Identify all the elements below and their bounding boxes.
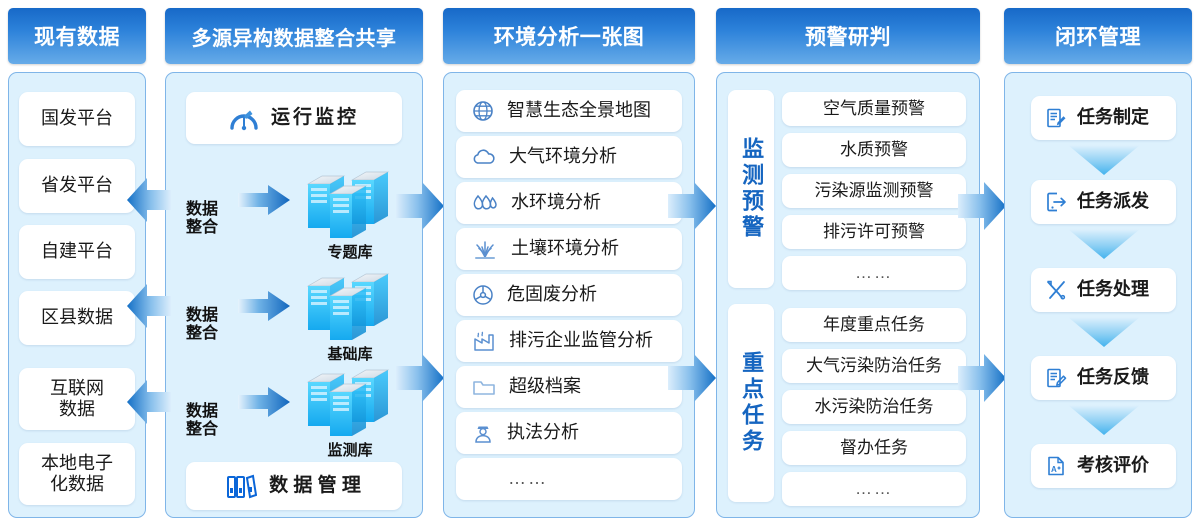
card-label: 智慧生态全景地图 [507, 100, 651, 121]
database-label: 基础库 [327, 343, 372, 364]
card-hazardous-waste-analysis[interactable]: 危固废分析 [456, 274, 682, 316]
closed-loop-down-arrow-1 [1068, 145, 1140, 175]
card-label: 土壤环境分析 [511, 238, 619, 259]
column-title-early-warning: 预警研判 [805, 21, 891, 51]
flow-arrow-2 [238, 289, 290, 323]
card-label: 任务派发 [1077, 191, 1149, 212]
card-label: …… [508, 468, 548, 489]
database-label: 专题库 [327, 241, 372, 262]
grade-icon: A [1045, 455, 1067, 477]
card-label: 互联网 数据 [50, 378, 104, 420]
soil-grass-icon [472, 238, 498, 260]
document-edit-icon [1045, 107, 1067, 129]
card-local-digital-data[interactable]: 本地电子 化数据 [19, 443, 135, 505]
warning-to-closedloop-arrow-1 [958, 176, 1006, 236]
card-label: 运行监控 [271, 107, 359, 129]
closed-loop-down-arrow-3 [1068, 317, 1140, 347]
flow-label-1: 数据 整合 [186, 183, 218, 237]
card-supervision-task[interactable]: 督办任务 [782, 431, 966, 465]
card-label: 区县数据 [41, 307, 113, 328]
card-law-enforcement-analysis[interactable]: 执法分析 [456, 412, 682, 454]
card-label: 执法分析 [507, 422, 579, 443]
column-title-closed-loop: 闭环管理 [1055, 21, 1141, 51]
card-label: 任务处理 [1077, 279, 1149, 300]
binders-icon [227, 473, 257, 499]
card-water-pollution-control-task[interactable]: 水污染防治任务 [782, 390, 966, 424]
integration-to-analysis-arrow-2 [396, 348, 444, 408]
card-shengfa-platform[interactable]: 省发平台 [19, 159, 135, 213]
analysis-to-warning-arrow-1 [668, 176, 716, 236]
warning-to-closedloop-arrow-2 [958, 348, 1006, 408]
server-rack-icon [300, 366, 400, 438]
card-label: 数 据 管 理 [269, 475, 361, 497]
server-rack-icon [300, 270, 400, 342]
card-task-processing[interactable]: 任务处理 [1031, 268, 1176, 312]
card-label: 大气环境分析 [509, 146, 617, 167]
officer-icon [472, 422, 494, 444]
card-task-dispatch[interactable]: 任务派发 [1031, 180, 1176, 224]
group-band-monitoring-warning: 监测预警 [728, 90, 774, 288]
database-monitoring: 监测库 [296, 366, 404, 460]
card-guofa-platform[interactable]: 国发平台 [19, 92, 135, 146]
card-smart-eco-panorama-map[interactable]: 智慧生态全景地图 [456, 90, 682, 132]
closed-loop-down-arrow-2 [1068, 229, 1140, 259]
card-polluting-enterprise-supervision[interactable]: 排污企业监管分析 [456, 320, 682, 362]
card-environment-ellipsis: …… [456, 458, 682, 500]
cloud-icon [472, 147, 496, 167]
card-label: 水环境分析 [511, 192, 601, 213]
column-title-existing-data: 现有数据 [34, 21, 120, 51]
card-label: 危固废分析 [507, 284, 597, 305]
card-key-task-ellipsis: …… [782, 472, 966, 506]
card-atmosphere-analysis[interactable]: 大气环境分析 [456, 136, 682, 178]
flow-label-3: 数据 整合 [186, 385, 218, 439]
card-label: 空气质量预警 [823, 99, 925, 119]
card-warning-ellipsis: …… [782, 256, 966, 290]
column-header-environment-analysis: 环境分析一张图 [443, 8, 695, 64]
group-band-key-tasks: 重点任务 [728, 304, 774, 502]
card-assessment-evaluation[interactable]: A 考核评价 [1031, 444, 1176, 488]
flow-arrow-1 [238, 183, 290, 217]
dispatch-icon [1045, 191, 1067, 213]
feedback-icon [1045, 367, 1067, 389]
flow-arrow-3 [238, 385, 290, 419]
card-label: 考核评价 [1077, 455, 1149, 476]
card-annual-key-task[interactable]: 年度重点任务 [782, 308, 966, 342]
water-drops-icon [472, 193, 498, 213]
card-air-quality-warning[interactable]: 空气质量预警 [782, 92, 966, 126]
svg-text:A: A [1051, 465, 1057, 474]
card-label: 本地电子 化数据 [41, 453, 113, 495]
card-self-built-platform[interactable]: 自建平台 [19, 225, 135, 279]
factory-icon [472, 330, 496, 352]
card-operation-monitoring[interactable]: 运行监控 [186, 92, 402, 144]
card-label: 年度重点任务 [823, 315, 925, 335]
card-label: 超级档案 [509, 376, 581, 397]
column-title-data-integration: 多源异构数据整合共享 [192, 22, 397, 51]
gauge-icon [229, 105, 259, 131]
card-label: 排污许可预警 [823, 222, 925, 242]
card-label: 国发平台 [41, 108, 113, 129]
card-label: 水污染防治任务 [815, 397, 934, 417]
database-label: 监测库 [327, 439, 372, 460]
card-label: 省发平台 [41, 175, 113, 196]
card-label: 排污企业监管分析 [509, 330, 653, 351]
card-data-management[interactable]: 数 据 管 理 [186, 462, 402, 510]
card-water-quality-warning[interactable]: 水质预警 [782, 133, 966, 167]
analysis-to-warning-arrow-2 [668, 348, 716, 408]
closed-loop-down-arrow-4 [1068, 405, 1140, 435]
integration-to-analysis-arrow-1 [396, 176, 444, 236]
column-header-closed-loop: 闭环管理 [1004, 8, 1192, 64]
card-task-feedback[interactable]: 任务反馈 [1031, 356, 1176, 400]
card-task-creation[interactable]: 任务制定 [1031, 96, 1176, 140]
card-label: …… [855, 479, 893, 499]
tools-icon [1045, 279, 1067, 301]
card-label: …… [855, 263, 893, 283]
card-internet-data[interactable]: 互联网 数据 [19, 368, 135, 430]
card-label: 督办任务 [840, 438, 908, 458]
card-pollution-source-warning[interactable]: 污染源监测预警 [782, 174, 966, 208]
database-topic: 专题库 [296, 168, 404, 262]
card-label: 任务反馈 [1077, 367, 1149, 388]
card-air-pollution-control-task[interactable]: 大气污染防治任务 [782, 349, 966, 383]
card-water-environment-analysis[interactable]: 水环境分析 [456, 182, 682, 224]
card-label: 大气污染防治任务 [806, 356, 942, 376]
column-header-existing-data: 现有数据 [8, 8, 146, 64]
card-soil-environment-analysis[interactable]: 土壤环境分析 [456, 228, 682, 270]
integration-to-existing-arrow-2 [127, 278, 171, 334]
diagram-canvas: 现有数据 国发平台 省发平台 自建平台 区县数据 互联网 数据 本地电子 化数据… [0, 0, 1200, 526]
column-header-early-warning: 预警研判 [716, 8, 980, 64]
integration-to-existing-arrow-1 [127, 172, 171, 228]
card-district-data[interactable]: 区县数据 [19, 291, 135, 345]
card-label: 水质预警 [840, 140, 908, 160]
globe-icon [472, 100, 494, 122]
column-header-data-integration: 多源异构数据整合共享 [165, 8, 423, 64]
biohazard-icon [472, 284, 494, 306]
card-super-archive[interactable]: 超级档案 [456, 366, 682, 408]
folder-icon [472, 377, 496, 397]
server-rack-icon [300, 168, 400, 240]
database-basic: 基础库 [296, 270, 404, 364]
integration-to-existing-arrow-3 [127, 374, 171, 430]
card-label: 自建平台 [41, 241, 113, 262]
flow-label-2: 数据 整合 [186, 289, 218, 343]
card-discharge-permit-warning[interactable]: 排污许可预警 [782, 215, 966, 249]
card-label: 任务制定 [1077, 107, 1149, 128]
card-label: 污染源监测预警 [815, 181, 934, 201]
column-title-environment-analysis: 环境分析一张图 [494, 21, 645, 51]
